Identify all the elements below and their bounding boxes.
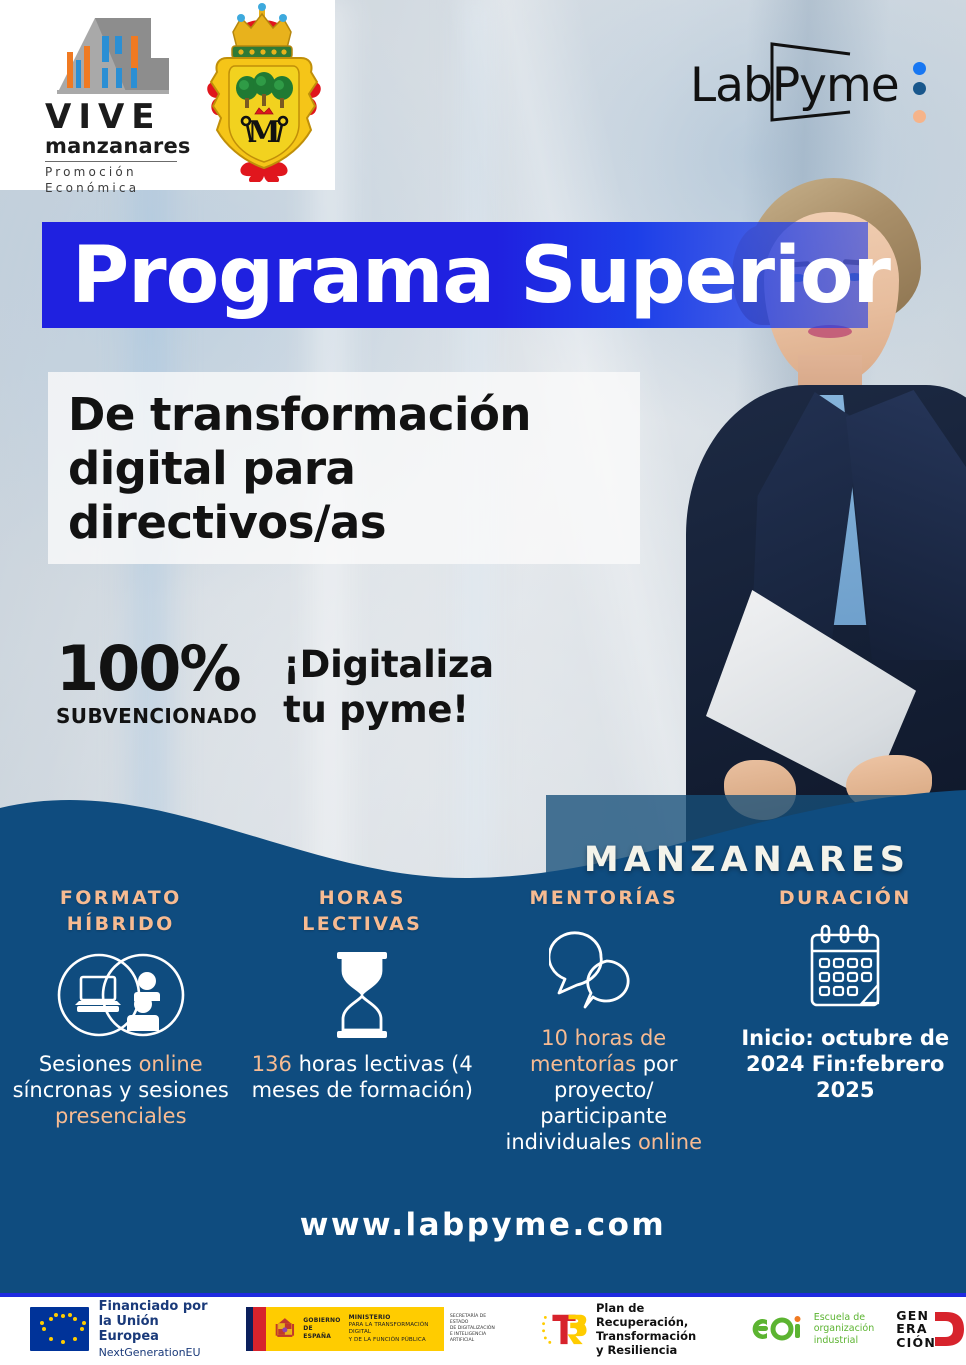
prtr-logo: Plan de Recuperación, Transformación y R…: [540, 1301, 725, 1357]
calendar-icon: [731, 919, 961, 1019]
features-row: FORMATO HÍBRIDO: [0, 885, 966, 1155]
desc-text: síncronas y sesiones: [13, 1078, 229, 1102]
page-title: Programa Superior: [72, 224, 890, 328]
ministerio-line-3: Y DE LA FUNCIÓN PÚBLICA: [349, 1337, 436, 1344]
prtr-line-2: Transformación: [596, 1329, 725, 1343]
manzanares-coat-of-arms: M: [199, 2, 329, 182]
desc-accent-text: 136: [252, 1052, 292, 1076]
promo-percent-label: SUBVENCIONADO: [56, 704, 257, 728]
footer-accent-bar: [0, 1293, 966, 1297]
coat-of-arms-letter: M: [247, 115, 280, 150]
gobierno-de-espana-logo: GOBIERNO DE ESPAÑA MINISTERIO PARA LA TR…: [246, 1307, 511, 1351]
ministerio-line-2: PARA LA TRANSFORMACIÓN DIGITAL: [349, 1322, 436, 1337]
feature-mentorias: MENTORÍAS 10 horas de mentorías por proy…: [483, 885, 725, 1155]
feature-description: Inicio: octubre de 2024 Fin:febrero 2025: [731, 1025, 961, 1103]
generacion-line-2: ERA: [896, 1322, 936, 1336]
gobierno-line-2: DE ESPAÑA: [303, 1325, 340, 1341]
promo-block: 100% SUBVENCIONADO ¡Digitaliza tu pyme!: [56, 640, 494, 732]
info-panel: MANZANARES FORMATO HÍBRIDO: [0, 760, 966, 1295]
labpyme-logo: LabPyme: [682, 22, 932, 142]
hourglass-icon: [248, 945, 478, 1045]
feature-title: DURACIÓN: [731, 885, 961, 911]
labpyme-dot-blue: [913, 62, 926, 75]
prtr-line-1: Plan de Recuperación,: [596, 1301, 725, 1329]
labpyme-wordmark: LabPyme: [690, 58, 899, 113]
desc-accent-text: online: [638, 1130, 702, 1154]
speech-bubbles-icon: [489, 919, 719, 1019]
promo-slogan: ¡Digitaliza tu pyme!: [283, 642, 494, 732]
spain-flag-icon: [246, 1307, 266, 1351]
prtr-tr-icon: [540, 1307, 590, 1351]
feature-description: Sesiones online síncronas y sesiones pre…: [6, 1051, 236, 1129]
eu-text-line-2: la Unión Europea: [99, 1314, 210, 1344]
desc-accent-text: presenciales: [55, 1104, 187, 1128]
feature-duracion: DURACIÓN: [725, 885, 966, 1155]
feature-horas-lectivas: HORAS LECTIVAS 136 horas lectivas (4 mes…: [242, 885, 484, 1155]
eoi-line-1: Escuela de: [814, 1312, 875, 1324]
website-url[interactable]: www.labpyme.com: [0, 1207, 966, 1243]
ministerio-line-1: MINISTERIO: [349, 1314, 436, 1322]
funding-footer: Financiado por la Unión Europea NextGene…: [0, 1293, 966, 1365]
eoi-line-3: industrial: [814, 1335, 875, 1347]
subtitle-line-1: De transformación: [68, 388, 531, 442]
desc-text: Inicio: octubre de 2024 Fin:febrero 2025: [741, 1026, 949, 1102]
vive-manzanares-logo: VIVE manzanares Promoción Económica: [45, 6, 197, 188]
vive-subwordmark: manzanares: [45, 134, 197, 158]
vive-divider: [45, 161, 177, 162]
prtr-line-3: y Resiliencia: [596, 1343, 725, 1357]
eoi-wordmark-icon: [751, 1314, 809, 1344]
promo-slogan-line-2: tu pyme!: [283, 687, 494, 732]
promo-percent: 100%: [56, 640, 257, 698]
eoi-logo: Escuela de organización industrial: [751, 1312, 875, 1347]
generacion-line-3: CIÓN: [896, 1336, 936, 1350]
vive-tagline-1: Promoción: [45, 164, 197, 180]
page-subtitle: De transformación digital para directivo…: [68, 388, 531, 550]
spain-coat-of-arms-icon: [274, 1314, 296, 1344]
top-logo-strip: VIVE manzanares Promoción Económica: [0, 0, 335, 190]
labpyme-dot-peach: [913, 110, 926, 123]
eu-funding-logo: Financiado por la Unión Europea NextGene…: [30, 1299, 210, 1359]
poster-root: VIVE manzanares Promoción Económica: [0, 0, 966, 1365]
generacion-d-letter-icon: [932, 1309, 966, 1349]
labpyme-dot-darkblue: [913, 82, 926, 95]
hybrid-laptop-person-icon: [6, 945, 236, 1045]
feature-title: FORMATO HÍBRIDO: [6, 885, 236, 937]
vive-building-icon: [55, 14, 173, 96]
secretaria-line-3: E INTELIGENCIA ARTIFICIAL: [450, 1332, 504, 1344]
eu-text-line-1: Financiado por: [99, 1299, 210, 1314]
subtitle-line-2: digital para: [68, 442, 531, 496]
feature-description: 136 horas lectivas (4 meses de formación…: [248, 1051, 478, 1103]
eoi-line-2: organización: [814, 1323, 875, 1335]
generacion-line-1: GEN: [896, 1309, 936, 1323]
vive-wordmark: VIVE: [45, 100, 197, 134]
gobierno-line-1: GOBIERNO: [303, 1317, 340, 1325]
desc-accent-text: online: [139, 1052, 203, 1076]
eu-flag-icon: [30, 1307, 89, 1351]
feature-formato-hibrido: FORMATO HÍBRIDO: [0, 885, 242, 1155]
feature-title: MENTORÍAS: [489, 885, 719, 911]
desc-text: Sesiones: [39, 1052, 139, 1076]
secretaria-line-1: SECRETARÍA DE ESTADO: [450, 1314, 504, 1326]
city-label: MANZANARES: [584, 840, 910, 880]
eu-text-line-3: NextGenerationEU: [99, 1346, 210, 1359]
subtitle-line-3: directivos/as: [68, 496, 531, 550]
generacion-d-logo: GEN ERA CIÓN: [896, 1309, 966, 1350]
feature-title: HORAS LECTIVAS: [248, 885, 478, 937]
promo-slogan-line-1: ¡Digitaliza: [283, 642, 494, 687]
feature-description: 10 horas de mentorías por proyecto/ part…: [489, 1025, 719, 1155]
vive-tagline-2: Económica: [45, 180, 197, 196]
